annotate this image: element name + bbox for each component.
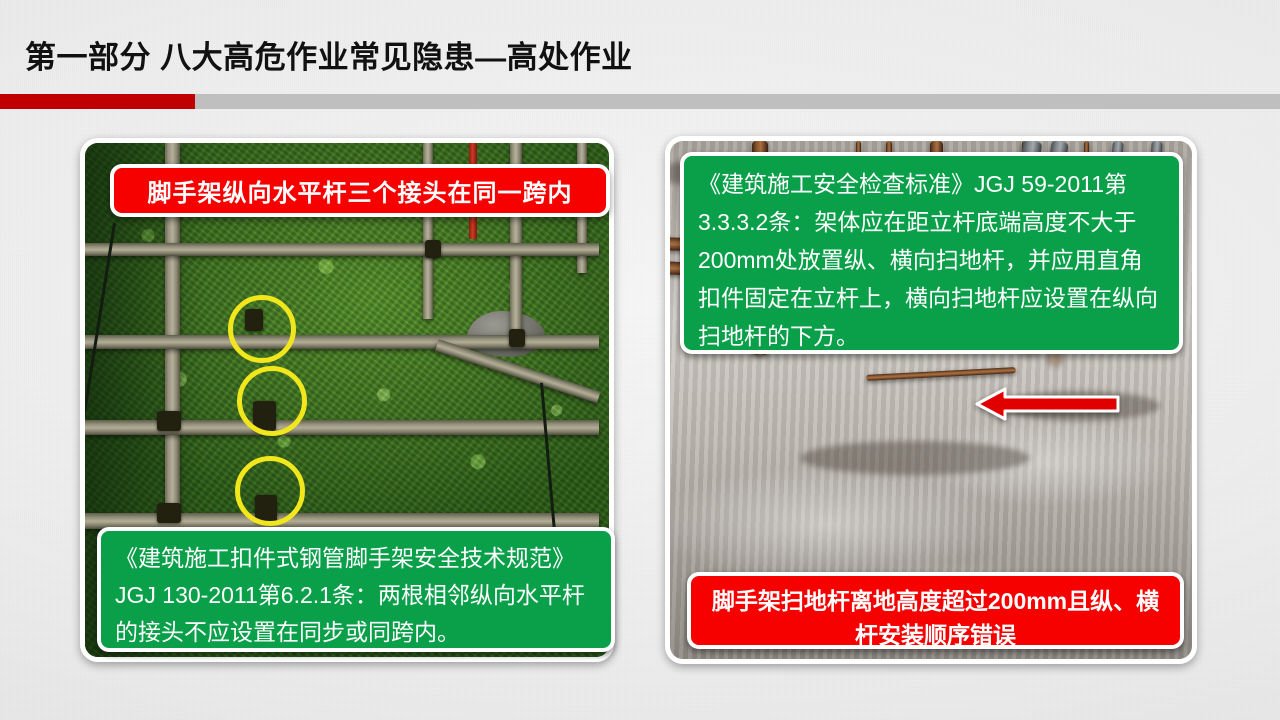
right-standard-callout-text: 《建筑施工安全检查标准》JGJ 59-2011第3.3.3.2条：架体应在距立杆… — [698, 171, 1158, 349]
page-title: 第一部分 八大高危作业常见隐患—高处作业 — [25, 32, 633, 77]
coupler — [425, 240, 441, 258]
left-issue-callout-text: 脚手架纵向水平杆三个接头在同一跨内 — [148, 173, 573, 208]
scaffold-horizontal-bar — [85, 243, 599, 256]
left-standard-callout-text: 《建筑施工扣件式钢管脚手架安全技术规范》JGJ 130-2011第6.2.1条：… — [115, 545, 585, 645]
divider-gray-segment — [195, 94, 1280, 109]
right-issue-callout-text: 脚手架扫地杆离地高度超过200mm且纵、横杆安装顺序错误 — [712, 588, 1159, 648]
highlight-circle — [235, 456, 305, 526]
header-divider — [0, 94, 1280, 109]
annotation-arrow — [975, 387, 1120, 426]
divider-red-segment — [0, 94, 195, 109]
coupler — [157, 503, 181, 523]
mud-puddle — [800, 441, 1030, 475]
coupler — [509, 329, 525, 347]
right-standard-callout: 《建筑施工安全检查标准》JGJ 59-2011第3.3.3.2条：架体应在距立杆… — [680, 152, 1183, 354]
coupler — [157, 411, 181, 431]
right-issue-callout: 脚手架扫地杆离地高度超过200mm且纵、横杆安装顺序错误 — [687, 572, 1184, 649]
left-issue-callout: 脚手架纵向水平杆三个接头在同一跨内 — [110, 164, 610, 217]
highlight-circle — [237, 366, 307, 436]
highlight-circle — [228, 295, 296, 363]
slide: 第一部分 八大高危作业常见隐患—高处作业 — [0, 0, 1280, 720]
arrow-left-icon — [975, 387, 1120, 421]
left-standard-callout: 《建筑施工扣件式钢管脚手架安全技术规范》JGJ 130-2011第6.2.1条：… — [97, 527, 615, 652]
